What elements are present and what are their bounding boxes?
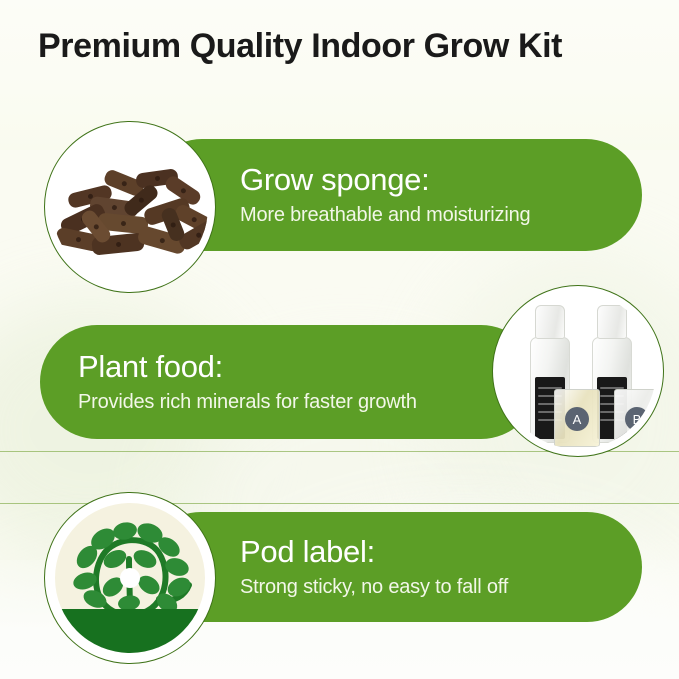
feature-pill-plant-food: Plant food: Provides rich minerals for f… bbox=[40, 325, 538, 439]
sponge-plugs-icon bbox=[52, 129, 208, 285]
bottle-a-cap bbox=[535, 305, 565, 339]
pod-center-hole bbox=[120, 568, 140, 588]
pod-label-icon bbox=[52, 500, 208, 656]
feature-heading: Grow sponge: bbox=[240, 163, 642, 197]
feature-heading: Pod label: bbox=[240, 535, 642, 569]
pod-soil-arc bbox=[55, 609, 205, 653]
sachet-a: A bbox=[554, 389, 600, 447]
nutrient-bottles-icon: A B bbox=[500, 293, 656, 449]
sachet-b: B bbox=[614, 389, 656, 447]
feature-image-pod-label bbox=[44, 492, 216, 664]
feature-subtitle: More breathable and moisturizing bbox=[240, 203, 642, 227]
bottle-b-cap bbox=[597, 305, 627, 339]
feature-image-plant-food: A B bbox=[492, 285, 664, 457]
infographic-canvas: Premium Quality Indoor Grow Kit Grow spo… bbox=[0, 0, 679, 679]
feature-pill-grow-sponge: Grow sponge: More breathable and moistur… bbox=[146, 139, 642, 251]
feature-subtitle: Provides rich minerals for faster growth bbox=[78, 390, 538, 414]
sachet-b-label: B bbox=[625, 407, 649, 431]
feature-pill-pod-label: Pod label: Strong sticky, no easy to fal… bbox=[146, 512, 642, 622]
feature-image-grow-sponge bbox=[44, 121, 216, 293]
pod-label-sticker bbox=[55, 503, 205, 653]
feature-subtitle: Strong sticky, no easy to fall off bbox=[240, 575, 642, 599]
sachet-a-label: A bbox=[565, 407, 589, 431]
sponge-pile bbox=[52, 159, 208, 269]
feature-heading: Plant food: bbox=[78, 350, 538, 384]
page-title: Premium Quality Indoor Grow Kit bbox=[38, 26, 648, 67]
